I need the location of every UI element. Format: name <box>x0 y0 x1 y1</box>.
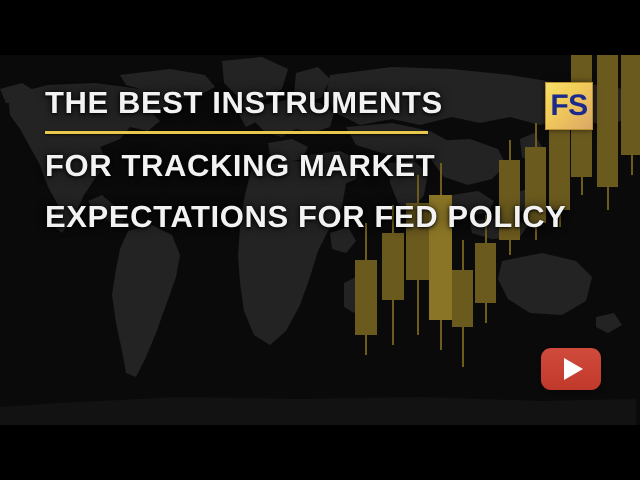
video-thumbnail: THE BEST INSTRUMENTS FOR TRACKING MARKET… <box>0 0 640 480</box>
play-triangle-icon <box>564 358 583 380</box>
candle-body <box>475 243 496 303</box>
play-button[interactable] <box>541 348 601 390</box>
candle-body <box>597 55 618 187</box>
candle-body <box>621 55 640 155</box>
letterbox-bottom <box>0 425 640 480</box>
letterbox-top <box>0 0 640 55</box>
title-line-2: FOR TRACKING MARKET <box>45 140 565 191</box>
title-block: THE BEST INSTRUMENTS FOR TRACKING MARKET… <box>45 77 565 242</box>
title-underline <box>45 131 428 134</box>
candle-body <box>355 260 377 335</box>
candle-body <box>382 233 404 300</box>
fs-logo: FS <box>545 82 593 130</box>
candle-body <box>452 270 473 327</box>
fs-logo-text: FS <box>550 91 587 121</box>
title-line-1: THE BEST INSTRUMENTS <box>45 77 565 128</box>
title-line-3: EXPECTATIONS FOR FED POLICY <box>45 191 565 242</box>
